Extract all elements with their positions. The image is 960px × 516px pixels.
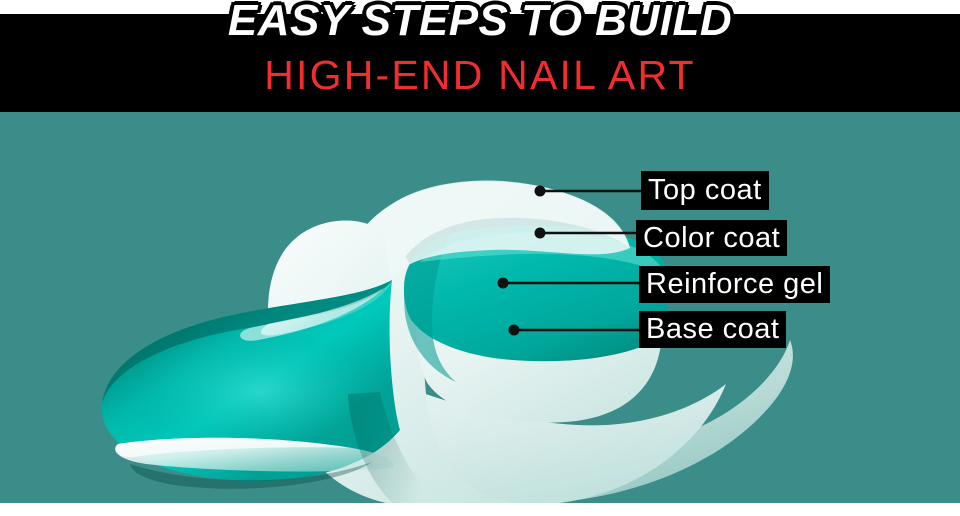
callout-label-reinforce-gel: Reinforce gel: [639, 266, 830, 303]
screenshot-root: EASY STEPS TO BUILD HIGH-END NAIL ART: [0, 0, 960, 516]
title-line-primary: EASY STEPS TO BUILD: [0, 0, 960, 46]
title-line-secondary: HIGH-END NAIL ART: [0, 52, 960, 99]
nail-cross-section-illustration: [0, 112, 960, 503]
callout-label-base-coat: Base coat: [639, 311, 786, 348]
callout-label-color-coat: Color coat: [636, 220, 787, 256]
illustration-panel: [0, 112, 960, 503]
callout-label-top-coat: Top coat: [641, 171, 769, 210]
nail-body: [102, 280, 400, 489]
